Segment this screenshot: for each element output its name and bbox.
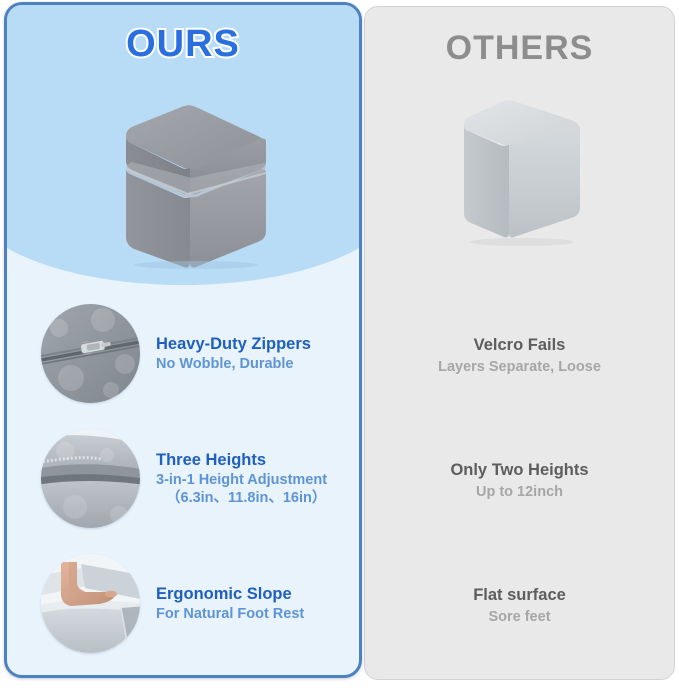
ours-feature-row: Ergonomic Slope For Natural Foot Rest [7,541,359,666]
ours-product-image [92,89,274,269]
others-feature-title: Flat surface [473,586,566,605]
ours-feature-title: Heavy-Duty Zippers [156,334,311,355]
ours-feature-row: Heavy-Duty Zippers No Wobble, Durable [7,291,359,416]
others-feature-row: Velcro Fails Layers Separate, Loose [365,293,674,418]
ours-feature-sub: 3-in-1 Height Adjustment [156,471,327,489]
ours-feature-text: Three Heights 3-in-1 Height Adjustment （… [156,450,327,507]
others-feature-row: Flat surface Sore feet [365,543,674,668]
ours-feature-sub: For Natural Foot Rest [156,605,304,623]
others-feature-sub: Sore feet [488,609,550,625]
others-feature-title: Velcro Fails [474,336,566,355]
ours-feature-row: Three Heights 3-in-1 Height Adjustment （… [7,416,359,541]
others-title: OTHERS [365,29,674,68]
ours-feature-text: Ergonomic Slope For Natural Foot Rest [156,584,304,623]
others-product-image [456,95,584,247]
others-feature-title: Only Two Heights [450,461,588,480]
comparison-board: OTHERS [0,0,679,688]
stacked-foam-layers-photo-icon [41,429,140,528]
ours-feature-sub-detail: （6.3in、11.8in、16in） [156,489,327,507]
ours-feature-list: Heavy-Duty Zippers No Wobble, Durable [7,291,359,666]
others-feature-row: Only Two Heights Up to 12inch [365,418,674,543]
others-feature-list: Velcro Fails Layers Separate, Loose Only… [365,293,674,668]
others-panel: OTHERS [364,6,675,680]
ours-feature-title: Ergonomic Slope [156,584,304,605]
others-feature-sub: Up to 12inch [476,484,563,500]
zipper-photo-icon [41,304,140,403]
others-feature-sub: Layers Separate, Loose [438,359,601,375]
ours-feature-sub: No Wobble, Durable [156,355,311,373]
foot-on-wedge-photo-icon [41,554,140,653]
ours-feature-text: Heavy-Duty Zippers No Wobble, Durable [156,334,311,373]
ours-feature-title: Three Heights [156,450,327,471]
ours-title: OURS [7,23,359,66]
ours-panel: OURS [4,2,362,678]
